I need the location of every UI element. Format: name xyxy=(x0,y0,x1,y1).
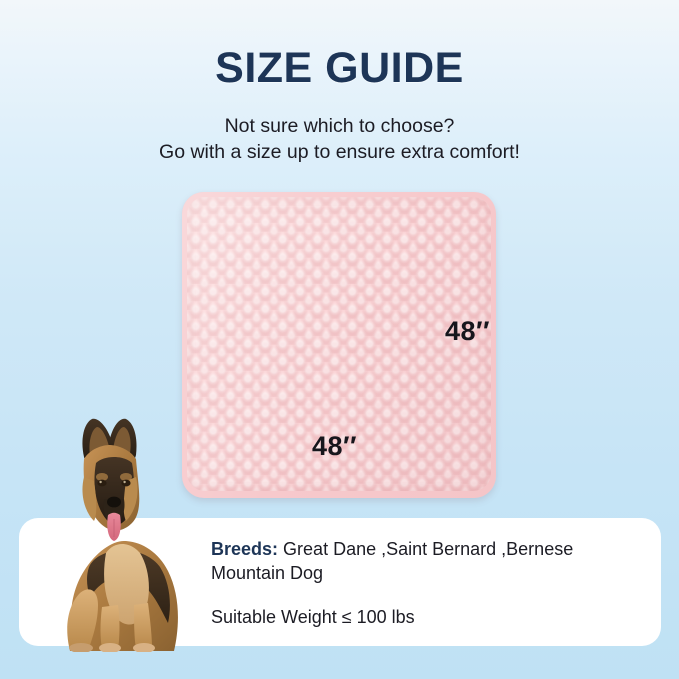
german-shepherd-illustration xyxy=(40,415,198,652)
header: SIZE GUIDE Not sure which to choose? Go … xyxy=(0,0,679,165)
dog-eye-highlight-left xyxy=(99,481,101,483)
breeds-row: Breeds: Great Dane ,Saint Bernard ,Berne… xyxy=(211,537,641,585)
dog-front-leg-left xyxy=(101,605,120,649)
breed-info-text: Breeds: Great Dane ,Saint Bernard ,Berne… xyxy=(211,537,641,629)
size-guide-page: SIZE GUIDE Not sure which to choose? Go … xyxy=(0,0,679,679)
dog-cheek-left xyxy=(82,477,96,521)
subtitle: Not sure which to choose? Go with a size… xyxy=(0,93,679,165)
dog-nose xyxy=(107,497,121,508)
suitable-weight-text: Suitable Weight ≤ 100 lbs xyxy=(211,585,641,629)
product-mat-illustration: 48′′ 48′′ xyxy=(182,192,496,498)
dog-eye-highlight-right xyxy=(123,481,125,483)
mat-width-label: 48′′ xyxy=(445,316,490,347)
page-title: SIZE GUIDE xyxy=(0,0,679,93)
dog-eye-right xyxy=(121,480,130,487)
mat-length-label: 48′′ xyxy=(312,431,357,462)
dog-eye-left xyxy=(97,480,106,487)
subtitle-line-2: Go with a size up to ensure extra comfor… xyxy=(0,139,679,165)
dog-photo xyxy=(40,415,198,652)
subtitle-line-1: Not sure which to choose? xyxy=(0,113,679,139)
breeds-label: Breeds: xyxy=(211,539,278,559)
